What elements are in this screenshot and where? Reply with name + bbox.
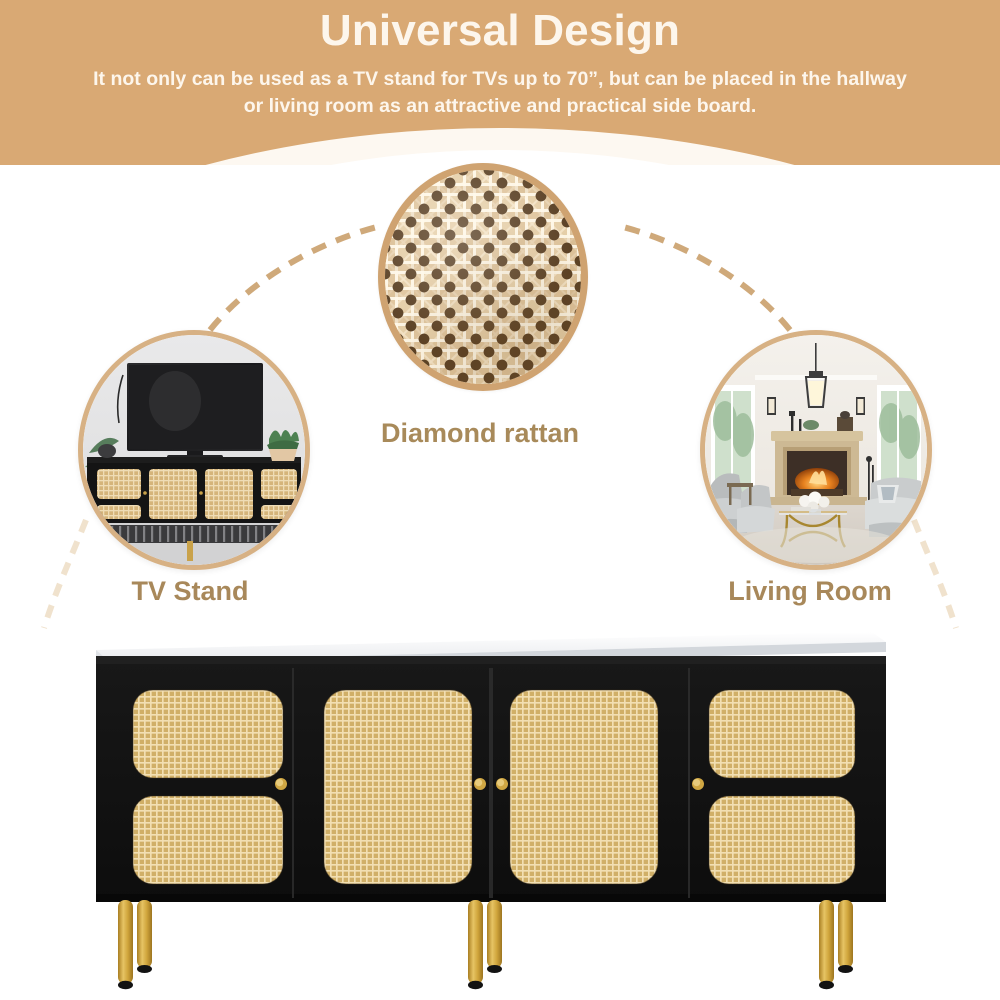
legs bbox=[118, 900, 853, 989]
rattan-swatch-inner bbox=[385, 170, 581, 384]
rattan-label: Diamond rattan bbox=[250, 418, 710, 449]
page-subtitle-line-2: or living room as an attractive and prac… bbox=[18, 93, 982, 120]
product-sideboard bbox=[0, 612, 1000, 1000]
living-room-scene bbox=[705, 335, 927, 565]
tv-stand-illustration bbox=[83, 335, 305, 565]
door-left-inner[interactable] bbox=[324, 690, 486, 884]
living-room-illustration bbox=[705, 335, 927, 565]
page-subtitle-line-1: It not only can be used as a TV stand fo… bbox=[18, 66, 982, 93]
door-right-inner[interactable] bbox=[496, 690, 658, 884]
connector-right-arc bbox=[615, 225, 790, 330]
tv-stand-scene bbox=[83, 335, 305, 565]
tv-stand-label: TV Stand bbox=[40, 576, 340, 607]
header-curve-inner bbox=[0, 150, 1000, 165]
cane-shading-overlay bbox=[385, 170, 581, 384]
tv-stand-photo-circle bbox=[78, 330, 310, 570]
living-room-label: Living Room bbox=[660, 576, 960, 607]
sideboard-illustration bbox=[0, 612, 1000, 1000]
rattan-swatch-icon bbox=[378, 163, 588, 391]
infographic-canvas: Universal Design It not only can be used… bbox=[0, 0, 1000, 1000]
page-subtitle: It not only can be used as a TV stand fo… bbox=[18, 66, 982, 120]
connector-left-arc bbox=[210, 225, 385, 330]
page-title: Universal Design bbox=[0, 6, 1000, 57]
living-room-photo-circle bbox=[700, 330, 932, 570]
